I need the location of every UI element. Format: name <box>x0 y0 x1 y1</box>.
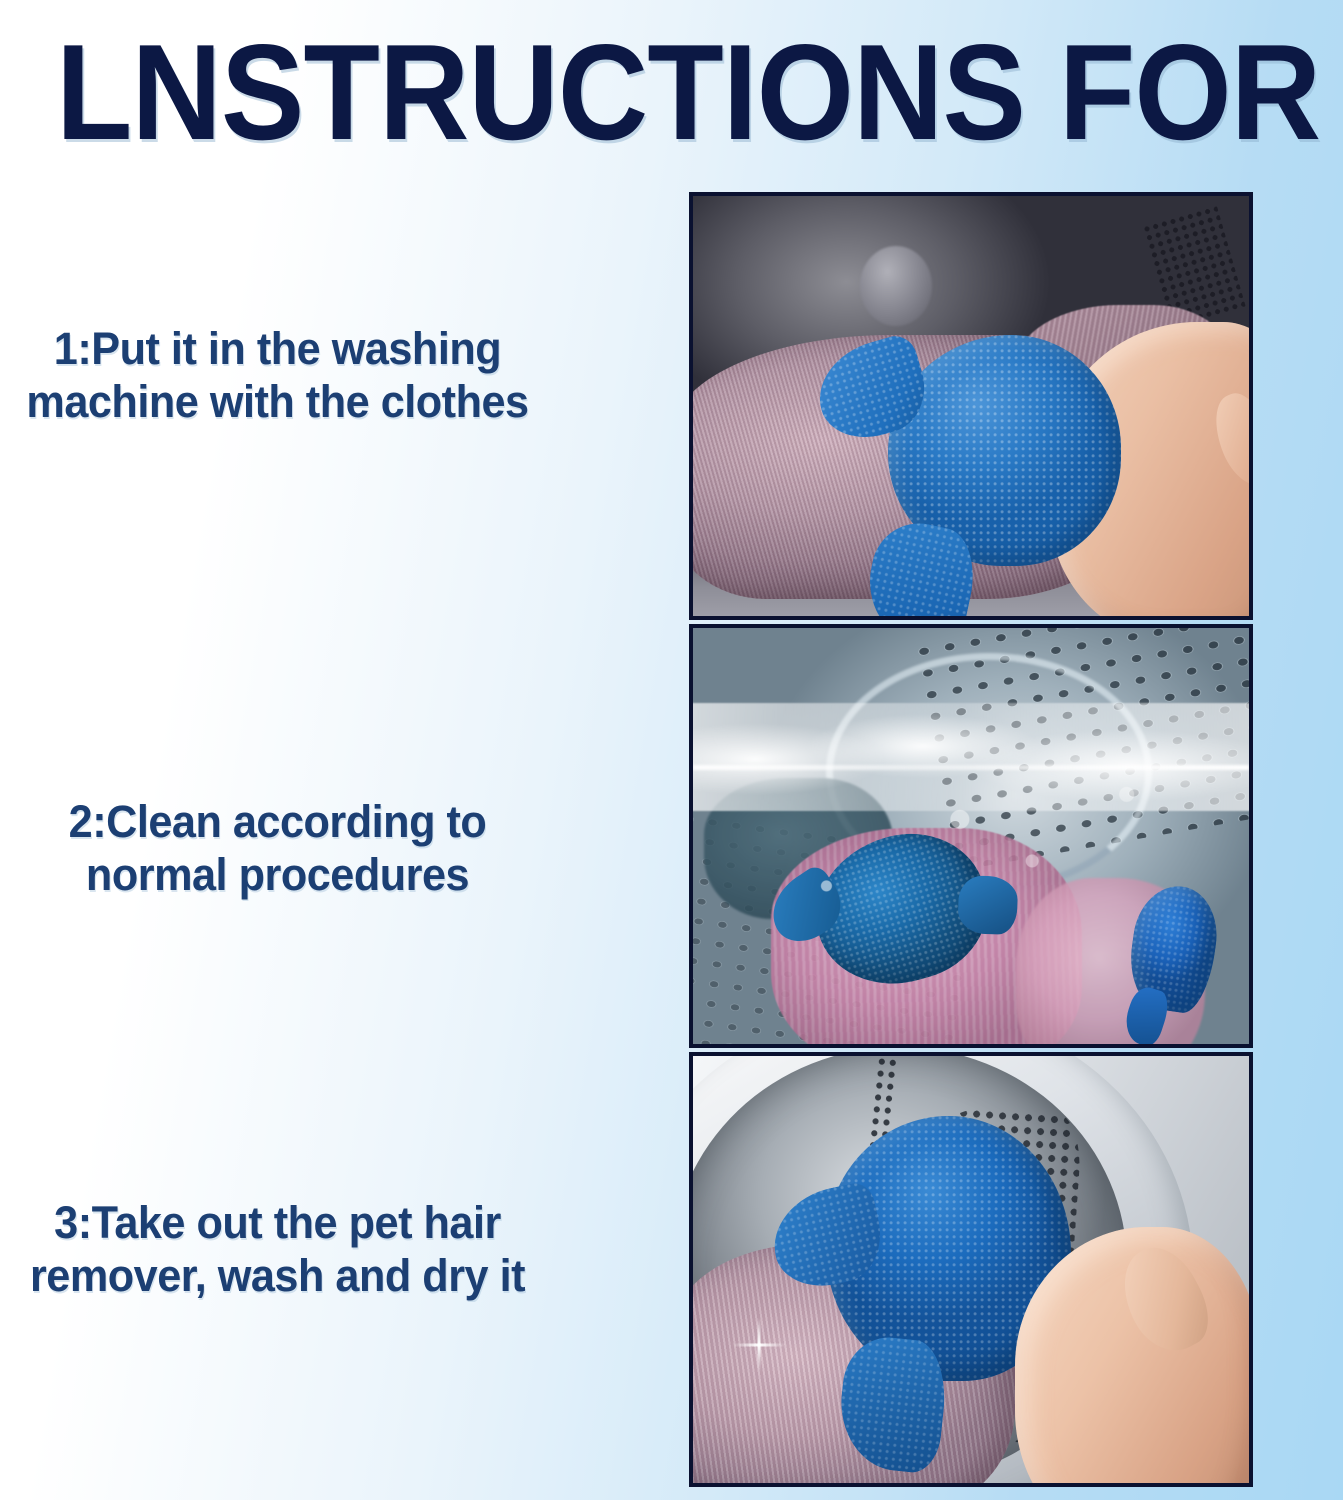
step-2-text: 2:Clean according to normal procedures <box>11 795 544 901</box>
step-3-photo <box>689 1052 1253 1487</box>
photo-wash-cycle-running <box>693 628 1249 1044</box>
step-3-text: 3:Take out the pet hair remover, wash an… <box>11 1196 544 1302</box>
instructions-poster: LNSTRUCTIONS FOR USE 1:Put it in the was… <box>0 0 1343 1500</box>
photo-removing-pet-hair-remover <box>693 1056 1249 1483</box>
water-splash <box>693 703 1249 811</box>
thumb <box>1107 1235 1222 1364</box>
step-1-photo <box>689 192 1253 620</box>
step-2-photo <box>689 624 1253 1048</box>
thumb <box>1204 386 1249 494</box>
drum-paddle <box>860 246 932 326</box>
water-line <box>693 765 1249 770</box>
sponge-tail-fin <box>958 875 1019 935</box>
step-1-text: 1:Put it in the washing machine with the… <box>11 322 544 428</box>
photo-washing-machine-loading <box>693 196 1249 616</box>
page-title: LNSTRUCTIONS FOR USE <box>56 28 1068 158</box>
fish-sponge-icon <box>888 335 1122 566</box>
